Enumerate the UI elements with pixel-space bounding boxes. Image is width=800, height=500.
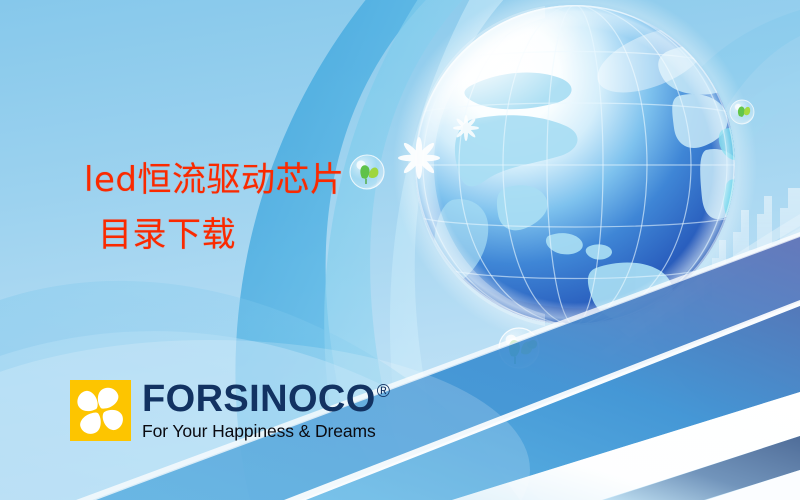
registered-trademark-icon: ® (377, 382, 390, 400)
promo-banner: led恒流驱动芯片 目录下载 FORSINOCO ® For Your Happ (0, 0, 800, 500)
bubble-small-right (730, 100, 754, 124)
bubble-upper (350, 155, 384, 189)
headline-line-2: 目录下载 (84, 215, 344, 256)
four-petal-pinwheel-icon (70, 380, 131, 441)
logo-text-block: FORSINOCO ® For Your Happiness & Dreams (142, 380, 390, 442)
headline-line-1: led恒流驱动芯片 (84, 160, 344, 201)
company-logo[interactable]: FORSINOCO ® For Your Happiness & Dreams (70, 380, 390, 442)
logo-wordmark: FORSINOCO (142, 381, 376, 418)
headline-text: led恒流驱动芯片 目录下载 (84, 160, 344, 257)
logo-tagline: For Your Happiness & Dreams (142, 421, 390, 442)
